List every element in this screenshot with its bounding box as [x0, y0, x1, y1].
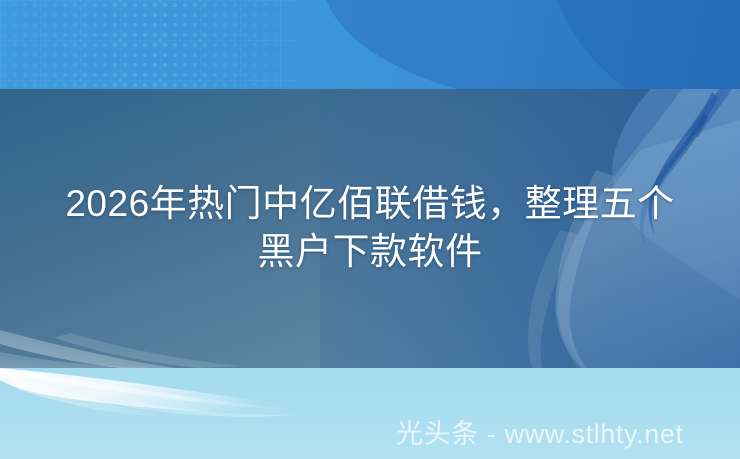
site-watermark: 光头条 - www.stlhty.net	[396, 418, 684, 450]
top-band	[0, 0, 740, 89]
page-title: 2026年热门中亿佰联借钱，整理五个 黑户下款软件	[32, 180, 708, 276]
top-band-dot-pattern	[0, 0, 330, 89]
poster-image: 2026年热门中亿佰联借钱，整理五个 黑户下款软件 光头条 - www.stlh…	[0, 0, 740, 459]
